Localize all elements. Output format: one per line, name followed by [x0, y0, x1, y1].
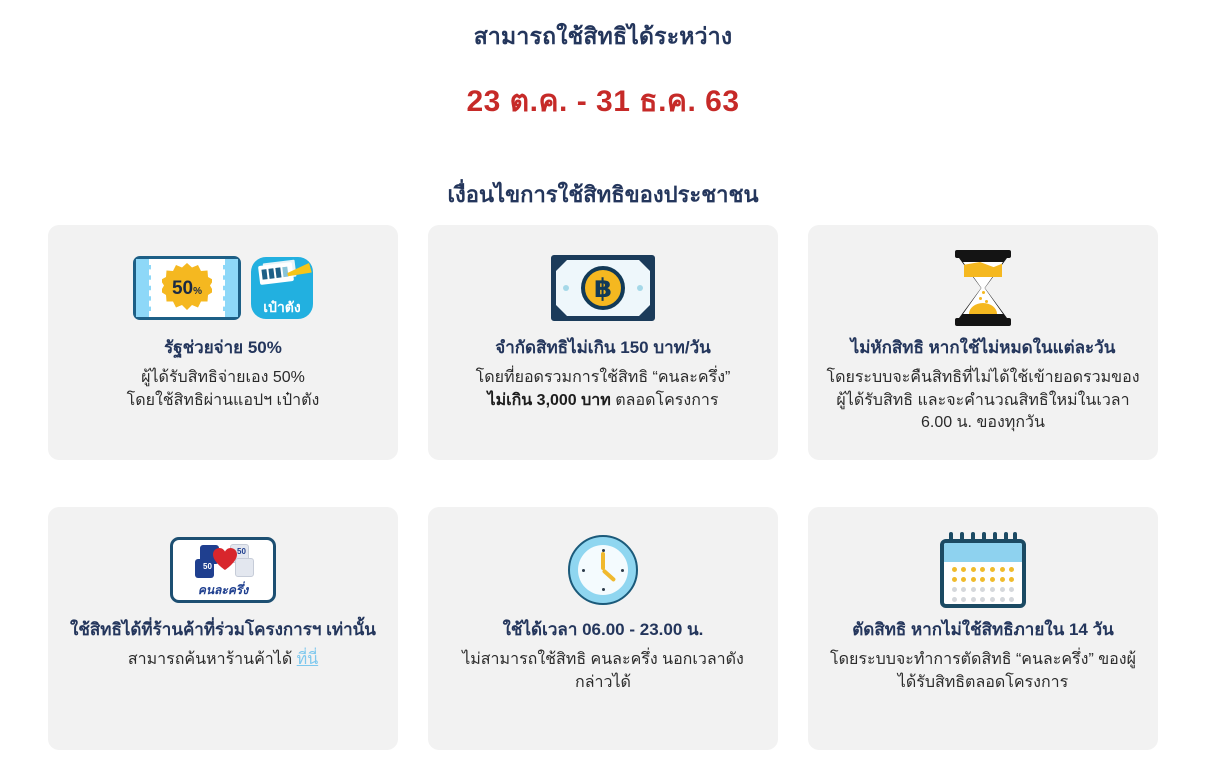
clock-icon	[568, 535, 638, 605]
card-body-line: ผู้ได้รับสิทธิจ่ายเอง 50%	[127, 367, 320, 390]
paotang-app-label: เป๋าตัง	[263, 300, 300, 314]
page-root: สามารถใช้สิทธิได้ระหว่าง 23 ต.ค. - 31 ธ.…	[0, 0, 1206, 772]
card-icon-area	[940, 527, 1026, 613]
puzzle-badge-right: 50	[237, 548, 246, 556]
condition-card-participating-stores: 50 50 คนละครึ่ง ใช้สิทธิได้ที่ร้านค้าที่…	[48, 507, 398, 750]
baht-coin-icon: ฿	[581, 266, 625, 310]
condition-card-14-day-expiry: ตัดสิทธิ หากไม่ใช้สิทธิภายใน 14 วัน โดยร…	[808, 507, 1158, 750]
card-icon-area: ฿	[551, 245, 655, 331]
card-title: ไม่หักสิทธิ หากใช้ไม่หมดในแต่ละวัน	[851, 337, 1116, 360]
card-body-line: โดยใช้สิทธิผ่านแอปฯ เป๋าตัง	[127, 390, 320, 413]
card-icon-area	[955, 245, 1011, 331]
card-body-line: สามารถค้นหาร้านค้าได้	[128, 651, 297, 668]
card-body-bold: ไม่เกิน 3,000 บาท	[488, 392, 611, 409]
card-body: ผู้ได้รับสิทธิจ่ายเอง 50% โดยใช้สิทธิผ่า…	[127, 367, 320, 412]
card-icon-area: 50% เป๋าตัง	[133, 245, 313, 331]
paotang-app-icon: เป๋าตัง	[251, 257, 313, 319]
card-body: ไม่สามารถใช้สิทธิ คนละครึ่ง นอกเวลาดังกล…	[446, 649, 760, 694]
card-body-tail: ตลอดโครงการ	[611, 392, 719, 409]
condition-card-no-deduction: ไม่หักสิทธิ หากใช้ไม่หมดในแต่ละวัน โดยระ…	[808, 225, 1158, 460]
card-body: โดยระบบจะทำการตัดสิทธิ “คนละครึ่ง” ของผู…	[826, 649, 1140, 694]
card-body-line: ไม่เกิน 3,000 บาท ตลอดโครงการ	[476, 390, 731, 413]
card-icon-area: 50 50 คนละครึ่ง	[170, 527, 276, 613]
hero-date-range: 23 ต.ค. - 31 ธ.ค. 63	[0, 78, 1206, 125]
khonlakrueng-wordmark: คนละครึ่ง	[198, 584, 248, 596]
baht-symbol: ฿	[594, 275, 612, 301]
conditions-grid: 50% เป๋าตัง รัฐช่วยจ่าย 50% ผู้ได้รับสิท…	[48, 225, 1158, 750]
card-title: ใช้ได้เวลา 06.00 - 23.00 น.	[503, 619, 704, 642]
condition-card-government-pays-half: 50% เป๋าตัง รัฐช่วยจ่าย 50% ผู้ได้รับสิท…	[48, 225, 398, 460]
section-title: เงื่อนไขการใช้สิทธิของประชาชน	[0, 177, 1206, 212]
card-title: ตัดสิทธิ หากไม่ใช้สิทธิภายใน 14 วัน	[852, 619, 1114, 642]
calendar-header-band	[944, 543, 1022, 562]
card-icon-area	[568, 527, 638, 613]
card-title: ใช้สิทธิได้ที่ร้านค้าที่ร่วมโครงการฯ เท่…	[70, 619, 376, 642]
find-stores-link[interactable]: ที่นี่	[297, 651, 318, 668]
card-title: จำกัดสิทธิไม่เกิน 150 บาท/วัน	[495, 337, 711, 360]
card-body: โดยระบบจะคืนสิทธิที่ไม่ได้ใช้เข้ายอดรวมข…	[826, 367, 1140, 435]
discount-starburst-icon: 50%	[162, 263, 212, 313]
coupon-value-label: 50%	[172, 279, 202, 298]
banknote-icon: ฿	[551, 255, 655, 321]
puzzle-heart-graphic: 50 50	[173, 544, 273, 580]
hero-title: สามารถใช้สิทธิได้ระหว่าง	[0, 22, 1206, 52]
heart-icon	[213, 548, 237, 570]
card-body-line: โดยที่ยอดรวมการใช้สิทธิ “คนละครึ่ง”	[476, 367, 731, 390]
card-body: สามารถค้นหาร้านค้าได้ ที่นี่	[128, 649, 318, 672]
condition-card-daily-limit: ฿ จำกัดสิทธิไม่เกิน 150 บาท/วัน โดยที่ยอ…	[428, 225, 778, 460]
hero-section: สามารถใช้สิทธิได้ระหว่าง 23 ต.ค. - 31 ธ.…	[0, 0, 1206, 125]
coupon-ticket-icon: 50%	[133, 256, 241, 320]
calendar-day-grid	[944, 562, 1022, 608]
khonlakrueng-logo-icon: 50 50 คนละครึ่ง	[170, 537, 276, 603]
card-title: รัฐช่วยจ่าย 50%	[164, 337, 282, 360]
calendar-icon	[940, 532, 1026, 608]
hourglass-icon	[955, 250, 1011, 326]
card-body: โดยที่ยอดรวมการใช้สิทธิ “คนละครึ่ง” ไม่เ…	[476, 367, 731, 412]
puzzle-badge-left: 50	[203, 563, 212, 571]
condition-card-usage-hours: ใช้ได้เวลา 06.00 - 23.00 น. ไม่สามารถใช้…	[428, 507, 778, 750]
